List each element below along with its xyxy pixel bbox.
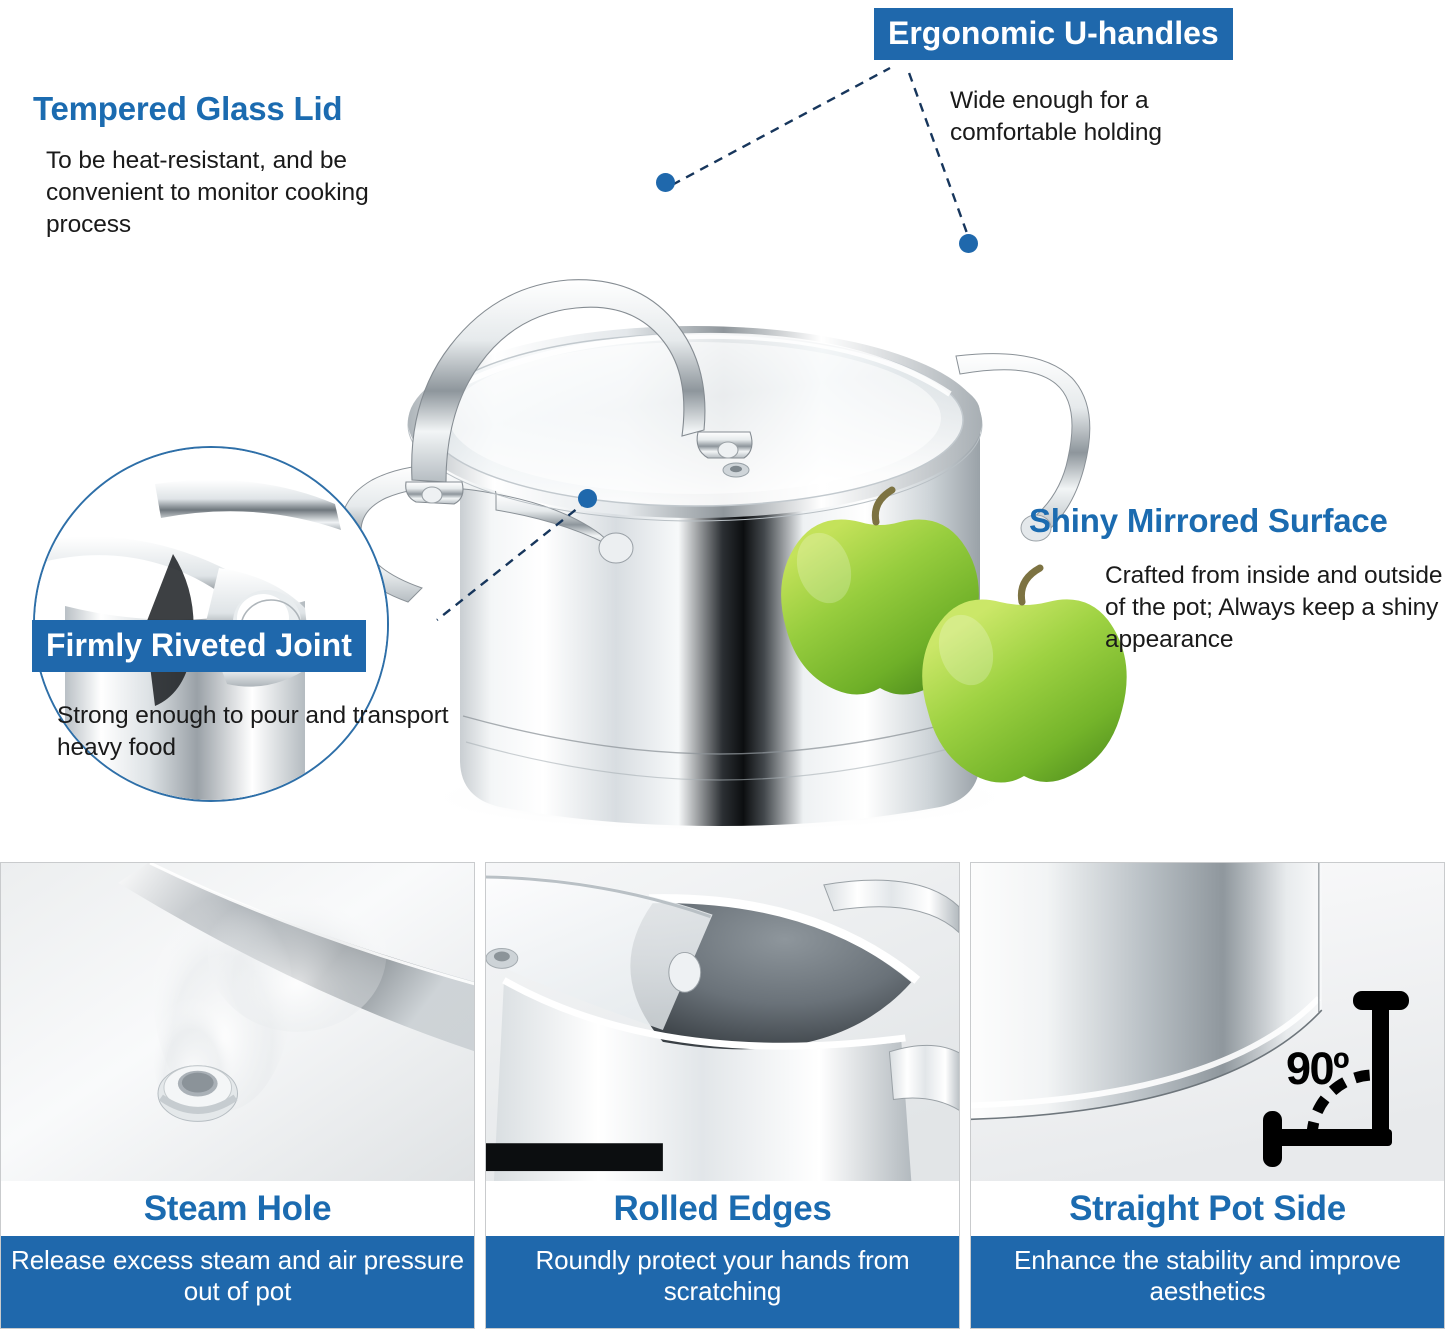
- callout-body-ergonomic-u-handles: Wide enough for a comfortable holding: [950, 85, 1280, 149]
- callout-body-shiny-mirrored-surface: Crafted from inside and outside of the p…: [1105, 560, 1445, 656]
- photo-lid-steam-vent: [1, 863, 474, 1181]
- photo-pot-rim-closeup: [486, 863, 959, 1181]
- callout-dot-lid-handle: [656, 173, 675, 192]
- steam-vent: [723, 463, 749, 477]
- callout-title-ergonomic-u-handles: Ergonomic U-handles: [874, 8, 1233, 60]
- callout-title-shiny-mirrored-surface: Shiny Mirrored Surface: [1029, 504, 1388, 539]
- panel-title-rolled-edges: Rolled Edges: [486, 1181, 959, 1236]
- feature-panel-straight-pot-side: 90º Straight Pot Side Enhance the stabil…: [970, 862, 1445, 1329]
- callout-body-tempered-glass-lid: To be heat-resistant, and be convenient …: [46, 145, 436, 241]
- steam-vent-grommet: [158, 1066, 238, 1122]
- feature-panel-rolled-edges: Rolled Edges Roundly protect your hands …: [485, 862, 960, 1329]
- callout-body-firmly-riveted-joint: Strong enough to pour and transport heav…: [57, 700, 457, 764]
- callout-title-firmly-riveted-joint: Firmly Riveted Joint: [32, 620, 366, 672]
- panel-desc-rolled-edges: Roundly protect your hands from scratchi…: [486, 1236, 959, 1328]
- callout-dot-rivet: [578, 489, 597, 508]
- rolled-edges-illustration: [486, 863, 959, 1181]
- photo-pot-sidewall-closeup: 90º: [971, 863, 1444, 1181]
- callout-dot-side-handle: [959, 234, 978, 253]
- panel-desc-straight-pot-side: Enhance the stability and improve aesthe…: [971, 1236, 1444, 1328]
- feature-panel-row: Steam Hole Release excess steam and air …: [0, 862, 1445, 1329]
- steam-hole-illustration: [1, 863, 474, 1181]
- hero-feature-section: Tempered Glass Lid To be heat-resistant,…: [0, 0, 1445, 855]
- panel-title-straight-pot-side: Straight Pot Side: [971, 1181, 1444, 1236]
- panel-title-steam-hole: Steam Hole: [1, 1181, 474, 1236]
- callout-title-tempered-glass-lid: Tempered Glass Lid: [33, 92, 342, 127]
- feature-panel-steam-hole: Steam Hole Release excess steam and air …: [0, 862, 475, 1329]
- angle-value-label: 90º: [1286, 1043, 1348, 1095]
- panel-desc-steam-hole: Release excess steam and air pressure ou…: [1, 1236, 474, 1328]
